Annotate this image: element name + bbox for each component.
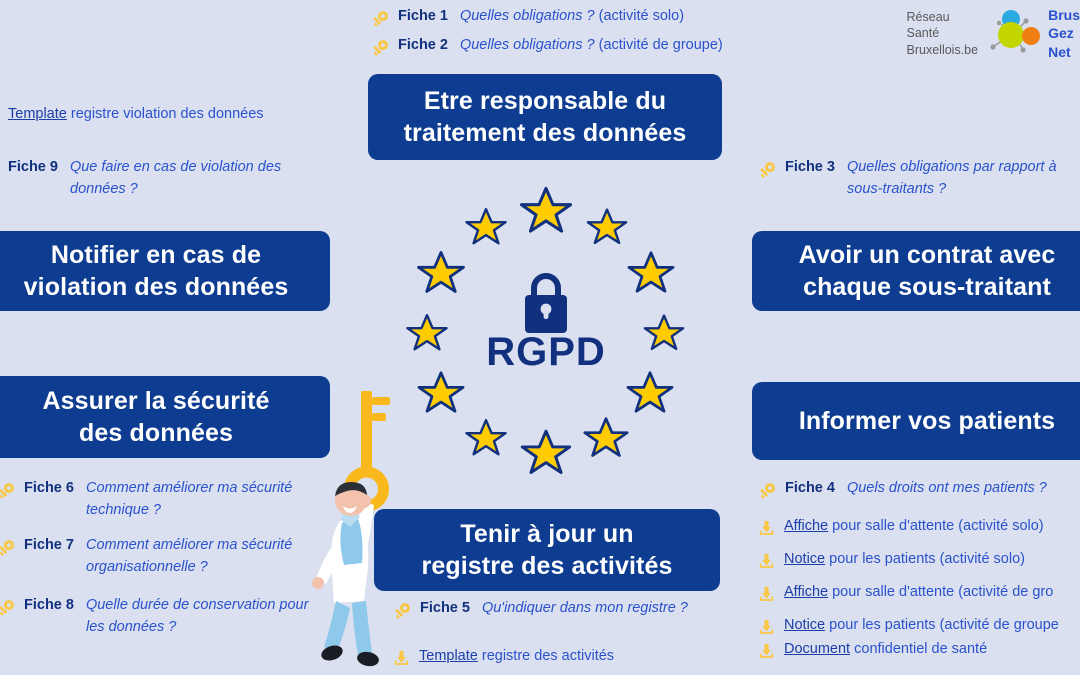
key-icon bbox=[757, 481, 777, 505]
key-icon bbox=[0, 598, 16, 622]
fiche-question-line-1: Comment améliorer ma sécurité bbox=[86, 480, 292, 496]
fiche-number: Fiche 4 bbox=[785, 480, 835, 496]
download-icon bbox=[757, 552, 776, 575]
download-link-notice-solo[interactable]: Notice pour les patients (activité solo) bbox=[757, 551, 1025, 575]
fiche-question: Quels droits ont mes patients ? bbox=[847, 480, 1047, 496]
box-line-2: traitement des données bbox=[390, 117, 701, 149]
key-icon bbox=[0, 538, 16, 562]
padlock-icon bbox=[525, 276, 567, 333]
box-line-2: registre des activités bbox=[408, 550, 687, 582]
download-link-affiche-groupe[interactable]: Affiche pour salle d'attente (activité d… bbox=[757, 584, 1053, 608]
fiche-question-line-2: les données ? bbox=[86, 619, 308, 635]
list-item-fiche-7[interactable]: Fiche 7Comment améliorer ma sécurité org… bbox=[0, 537, 292, 575]
fiche-number: Fiche 3 bbox=[785, 159, 835, 175]
download-link-rest: pour les patients (activité de groupe bbox=[829, 617, 1059, 633]
box-line-1: Notifier en cas de bbox=[10, 239, 303, 271]
download-link-template-violation[interactable]: Template registre violation des données bbox=[8, 106, 264, 122]
key-icon bbox=[757, 160, 777, 184]
logo-text-nl: Brus Gez Net bbox=[1048, 6, 1080, 61]
action-box-responsable[interactable]: Etre responsable du traitement des donné… bbox=[368, 74, 722, 160]
download-link-label[interactable]: Notice bbox=[784, 551, 825, 567]
list-item-fiche-9[interactable]: Fiche 9Que faire en cas de violation des… bbox=[8, 159, 281, 197]
key-icon bbox=[370, 9, 390, 33]
fiche-number: Fiche 7 bbox=[24, 537, 74, 553]
download-link-label[interactable]: Affiche bbox=[784, 518, 828, 534]
download-icon bbox=[757, 519, 776, 542]
download-link-label[interactable]: Template bbox=[8, 106, 67, 122]
download-link-label[interactable]: Document bbox=[784, 641, 850, 657]
action-box-notifier-violation[interactable]: Notifier en cas de violation des données bbox=[0, 231, 330, 311]
download-icon bbox=[757, 642, 776, 665]
box-line-2: violation des données bbox=[10, 271, 303, 303]
network-graphic-icon bbox=[982, 8, 1044, 60]
box-line-1: Informer vos patients bbox=[785, 405, 1069, 437]
box-line-1: Assurer la sécurité bbox=[28, 385, 283, 417]
fiche-suffix: (activité de groupe) bbox=[599, 37, 723, 53]
fiche-question-line-2: sous-traitants ? bbox=[847, 181, 1057, 197]
box-line-1: Tenir à jour un bbox=[408, 518, 687, 550]
logo-text-fr: Réseau Santé Bruxellois.be bbox=[907, 9, 979, 59]
fiche-number: Fiche 6 bbox=[24, 480, 74, 496]
key-icon bbox=[370, 38, 390, 62]
fiche-question-line-2: organisationnelle ? bbox=[86, 559, 292, 575]
download-link-label[interactable]: Notice bbox=[784, 617, 825, 633]
box-line-1: Etre responsable du bbox=[390, 85, 701, 117]
logo-line-2: Santé bbox=[907, 25, 979, 42]
fiche-question-line-1: Quelle durée de conservation pour bbox=[86, 597, 308, 613]
download-link-rest: confidentiel de santé bbox=[854, 641, 987, 657]
logo-nl-line-2: Gez bbox=[1048, 24, 1080, 42]
download-link-rest: pour salle d'attente (activité de gro bbox=[832, 584, 1053, 600]
list-item-fiche-3[interactable]: Fiche 3Quelles obligations par rapport à… bbox=[757, 159, 1057, 197]
download-link-rest: registre violation des données bbox=[71, 106, 264, 122]
list-item-fiche-5[interactable]: Fiche 5Qu'indiquer dans mon registre ? bbox=[392, 600, 688, 625]
list-item-fiche-4[interactable]: Fiche 4Quels droits ont mes patients ? bbox=[757, 480, 1047, 505]
fiche-question: Quelles obligations ? bbox=[460, 37, 595, 53]
download-link-rest: pour salle d'attente (activité solo) bbox=[832, 518, 1044, 534]
download-icon bbox=[757, 585, 776, 608]
download-link-template-activites[interactable]: Template registre des activités bbox=[392, 648, 614, 672]
fiche-question-line-1: Comment améliorer ma sécurité bbox=[86, 537, 292, 553]
download-icon bbox=[757, 618, 776, 641]
logo-line-1: Réseau bbox=[907, 9, 979, 26]
download-link-label[interactable]: Template bbox=[419, 648, 478, 664]
fiche-number: Fiche 9 bbox=[8, 159, 58, 175]
logo-nl-line-3: Net bbox=[1048, 43, 1080, 61]
action-box-contrat-sous-traitant[interactable]: Avoir un contrat avec chaque sous-traita… bbox=[752, 231, 1080, 311]
download-link-affiche-solo[interactable]: Affiche pour salle d'attente (activité s… bbox=[757, 518, 1044, 542]
action-box-assurer-securite[interactable]: Assurer la sécurité des données bbox=[0, 376, 330, 458]
fiche-question-line-1: Quelles obligations par rapport à bbox=[847, 159, 1057, 175]
list-item-fiche-1[interactable]: Fiche 1Quelles obligations ? (activité s… bbox=[370, 8, 684, 33]
fiche-question-line-2: données ? bbox=[70, 181, 281, 197]
action-box-registre-activites[interactable]: Tenir à jour un registre des activités bbox=[374, 509, 720, 591]
box-line-2: chaque sous-traitant bbox=[785, 271, 1070, 303]
rgpd-label: RGPD bbox=[398, 330, 694, 375]
fiche-number: Fiche 5 bbox=[420, 600, 470, 616]
list-item-fiche-2[interactable]: Fiche 2Quelles obligations ? (activité d… bbox=[370, 37, 723, 62]
key-icon bbox=[0, 481, 16, 505]
list-item-fiche-8[interactable]: Fiche 8Quelle durée de conservation pour… bbox=[0, 597, 308, 635]
download-link-rest: pour les patients (activité solo) bbox=[829, 551, 1025, 567]
fiche-question-line-1: Que faire en cas de violation des bbox=[70, 159, 281, 175]
list-item-fiche-6[interactable]: Fiche 6Comment améliorer ma sécurité tec… bbox=[0, 480, 292, 518]
download-link-notice-groupe[interactable]: Notice pour les patients (activité de gr… bbox=[757, 617, 1059, 641]
download-link-label[interactable]: Affiche bbox=[784, 584, 828, 600]
action-box-informer-patients[interactable]: Informer vos patients bbox=[752, 382, 1080, 460]
fiche-number: Fiche 1 bbox=[398, 8, 448, 24]
box-line-1: Avoir un contrat avec bbox=[785, 239, 1070, 271]
logo-nl-line-1: Brus bbox=[1048, 6, 1080, 24]
fiche-number: Fiche 8 bbox=[24, 597, 74, 613]
box-line-2: des données bbox=[28, 417, 283, 449]
fiche-question: Qu'indiquer dans mon registre ? bbox=[482, 600, 688, 616]
fiche-suffix: (activité solo) bbox=[599, 8, 684, 24]
fiche-question-line-2: technique ? bbox=[86, 502, 292, 518]
logo: Réseau Santé Bruxellois.be Brus Gez Net bbox=[907, 6, 1080, 61]
logo-line-3: Bruxellois.be bbox=[907, 42, 979, 59]
infographic-canvas: Réseau Santé Bruxellois.be Brus Gez Net bbox=[0, 0, 1080, 675]
fiche-number: Fiche 2 bbox=[398, 37, 448, 53]
fiche-question: Quelles obligations ? bbox=[460, 8, 595, 24]
download-link-rest: registre des activités bbox=[482, 648, 614, 664]
download-link-document-confidentiel[interactable]: Document confidentiel de santé bbox=[757, 641, 987, 665]
character-illustration bbox=[296, 383, 416, 675]
